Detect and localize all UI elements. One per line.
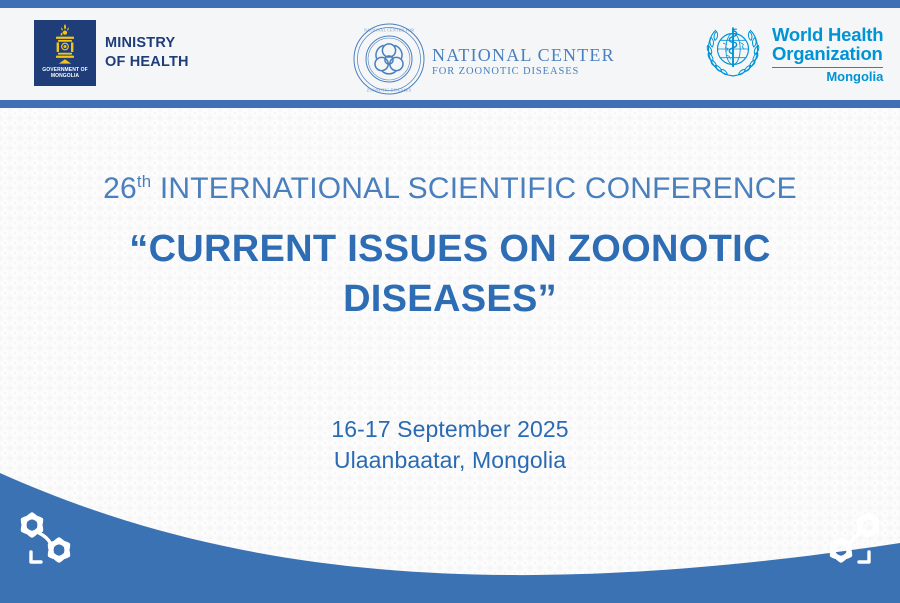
nczd-name-line2: FOR ZOONOTIC DISEASES xyxy=(432,65,615,78)
logo-row: GOVERNMENT OF MONGOLIA MINISTRY OF HEALT… xyxy=(0,8,900,100)
conference-title-slide: GOVERNMENT OF MONGOLIA MINISTRY OF HEALT… xyxy=(0,0,900,603)
ministry-name-line2: OF HEALTH xyxy=(105,53,189,72)
nczd-name: NATIONAL CENTER FOR ZOONOTIC DISEASES xyxy=(432,45,615,78)
conference-theme-line2: DISEASES” xyxy=(0,274,900,324)
who-name-line1: World Health xyxy=(772,25,883,45)
crest-caption-line2: MONGOLIA xyxy=(51,73,79,79)
nczd-name-line1: NATIONAL CENTER xyxy=(432,45,615,65)
conference-ordinal-suffix: th xyxy=(137,172,151,191)
logo-national-center-zoonotic-diseases: NATIONAL CENTER FOR ZOONOTIC DISEASES xyxy=(352,22,615,101)
ministry-of-health-name: MINISTRY OF HEALTH xyxy=(105,34,189,72)
svg-text:NATIONAL CENTER FOR: NATIONAL CENTER FOR xyxy=(364,28,414,33)
conference-number: 26 xyxy=(103,172,137,205)
who-divider-rule xyxy=(772,67,883,69)
biohazard-seal-icon: NATIONAL CENTER FOR ZOONOTIC DISEASES xyxy=(352,22,426,101)
triquetra-knot-ornament-icon xyxy=(12,503,88,575)
bottom-wave-decoration xyxy=(0,443,900,603)
logo-ministry-of-health: GOVERNMENT OF MONGOLIA MINISTRY OF HEALT… xyxy=(34,20,189,86)
conference-heading: 26th INTERNATIONAL SCIENTIFIC CONFERENCE xyxy=(0,170,900,208)
ministry-name-line1: MINISTRY xyxy=(105,34,189,53)
conference-label: INTERNATIONAL SCIENTIFIC CONFERENCE xyxy=(151,172,797,205)
top-accent-bar xyxy=(0,0,900,8)
conference-theme-line1: “CURRENT ISSUES ON ZOONOTIC xyxy=(0,224,900,274)
crest-caption: GOVERNMENT OF MONGOLIA xyxy=(42,67,87,79)
who-emblem-icon xyxy=(702,23,764,86)
header-divider-bar xyxy=(0,100,900,108)
who-name-line2: Organization xyxy=(772,44,883,64)
logo-world-health-organization: World Health Organization Mongolia xyxy=(702,23,883,86)
svg-text:ZOONOTIC DISEASES: ZOONOTIC DISEASES xyxy=(367,87,412,92)
conference-theme: “CURRENT ISSUES ON ZOONOTIC DISEASES” xyxy=(0,224,900,324)
title-block: 26th INTERNATIONAL SCIENTIFIC CONFERENCE… xyxy=(0,170,900,324)
mongolia-soyombo-emblem-icon: GOVERNMENT OF MONGOLIA xyxy=(34,20,96,86)
who-name: World Health Organization Mongolia xyxy=(772,25,883,85)
who-country-label: Mongolia xyxy=(772,70,883,84)
event-date: 16-17 September 2025 xyxy=(0,414,900,445)
triquetra-knot-ornament-icon xyxy=(812,503,888,575)
